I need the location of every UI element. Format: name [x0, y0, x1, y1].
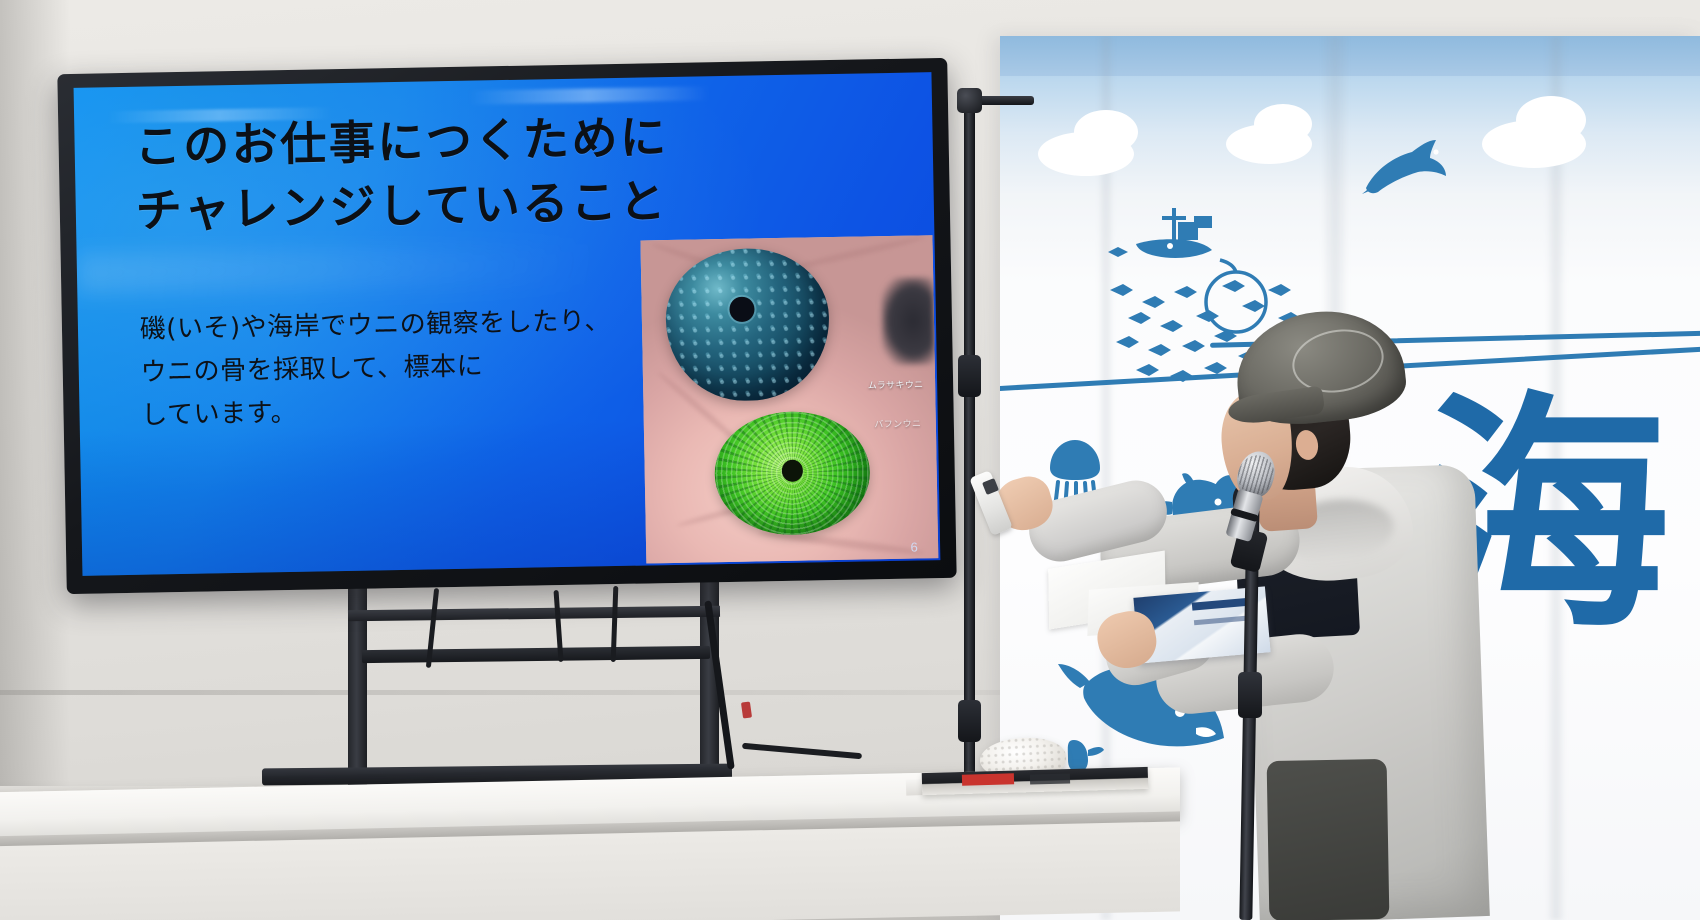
boom-mic-stand-clamp[interactable]	[957, 88, 982, 113]
cloud-icon	[1254, 104, 1312, 144]
slide-title: このお仕事につくために チャレンジしていること	[134, 103, 823, 242]
slide-photo-urchins: ムラサキウニ バフンウニ	[641, 236, 939, 563]
mic-stand-joint[interactable]	[958, 700, 981, 742]
purple-urchin-specimen	[664, 247, 830, 401]
mic-stand-joint[interactable]	[958, 355, 981, 397]
cloud-icon	[1074, 110, 1138, 154]
wall-seam	[0, 690, 1000, 695]
urchin-peristome-hole	[730, 296, 755, 322]
slide-title-line2: チャレンジしていること	[135, 167, 822, 243]
green-urchin-specimen	[714, 411, 871, 536]
dolphin-icon	[1356, 136, 1448, 198]
slide-body-text: 磯(いそ)や海岸でウニの観察をしたり、 ウニの骨を採取して、標本に しています。	[139, 299, 673, 438]
urchin-tubercle-texture	[664, 247, 830, 401]
book-spine-label	[962, 773, 1014, 785]
palm-crease	[788, 236, 926, 273]
photo-background-shadow	[881, 278, 935, 366]
screen-glare	[77, 244, 592, 293]
boom-mic-stand-pole	[964, 96, 975, 796]
photo-scene: 海 このお仕事につくために チャレンジしていること 磯(いそ)や海岸でウニの観察…	[0, 0, 1700, 920]
photo-caption-murasaki: ムラサキウニ	[868, 378, 924, 392]
mic-stand-joint[interactable]	[1238, 672, 1262, 718]
presentation-display[interactable]: このお仕事につくために チャレンジしていること 磯(いそ)や海岸でウニの観察をし…	[57, 58, 956, 594]
slide-body-line3: しています。	[141, 385, 674, 438]
presenter-trousers	[1267, 759, 1390, 920]
slide-page-number: 6	[910, 540, 918, 555]
photo-caption-bafun: バフンウニ	[874, 416, 921, 430]
screen-reflection-band	[468, 86, 708, 104]
urchin-peristome-hole	[781, 460, 803, 482]
tv-screen[interactable]: このお仕事につくために チャレンジしていること 磯(いそ)や海岸でウニの観察をし…	[74, 72, 941, 576]
cloud-icon	[1516, 96, 1586, 144]
book-spine-label	[1030, 773, 1070, 784]
